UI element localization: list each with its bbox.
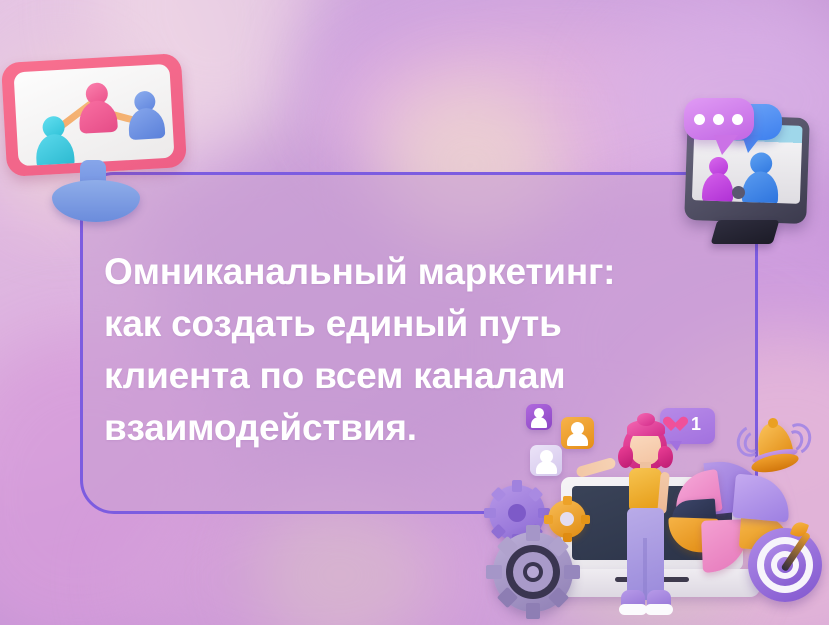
avatar-card-lavender [530, 445, 562, 476]
gear-grey [493, 532, 573, 612]
character-pigtail-left [618, 446, 633, 468]
character-pigtail-right [658, 446, 673, 468]
bubble-dot [694, 114, 705, 125]
character-shoe-left-sole [619, 604, 647, 615]
monitor-chart-illustration [2, 58, 192, 228]
avatar-card-orange [561, 417, 594, 449]
monitor-screen [13, 64, 174, 167]
pie-slice-lilac [732, 474, 792, 523]
monitor-stand [711, 220, 780, 244]
title-line-2: как создать единый путь [104, 298, 764, 350]
monitor-base [52, 180, 140, 222]
notification-count: 1 [691, 414, 701, 435]
character-hair-bun [637, 413, 655, 426]
home-button-icon [732, 186, 745, 199]
title-line-3: клиента по всем каналам [104, 350, 764, 402]
banner-canvas: Омниканальный маркетинг: как создать еди… [0, 0, 829, 625]
bubble-dot [732, 114, 743, 125]
monitor-chat-illustration [680, 96, 820, 256]
monitor-frame [1, 53, 187, 177]
character-pants-gap [643, 538, 647, 600]
character-illustration [607, 418, 682, 618]
avatar-card-purple [526, 404, 552, 430]
target-with-dart [748, 528, 822, 602]
bubble-dot [713, 114, 724, 125]
speech-bubble-purple [684, 98, 754, 140]
character-shoe-right-sole [645, 604, 673, 615]
title-line-1: Омниканальный маркетинг: [104, 246, 764, 298]
